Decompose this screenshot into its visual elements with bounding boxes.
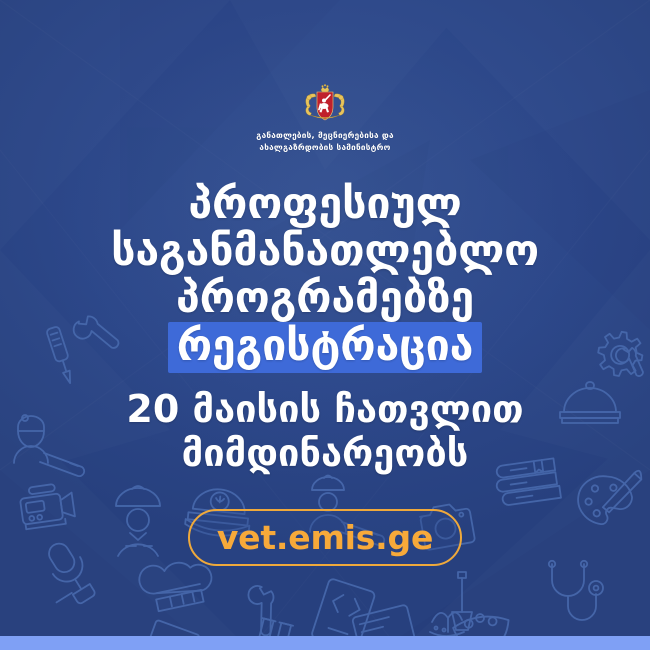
subheadline-line-2: მიმდინარეობს	[126, 431, 523, 475]
subheadline: 20 მაისის ჩათვლით მიმდინარეობს	[126, 387, 523, 475]
ministry-line-1: განათლების, მეცნიერებისა და	[256, 130, 394, 142]
headline-line-2: საგანმანათლებლო	[111, 228, 539, 275]
georgian-coat-of-arms-icon	[299, 84, 351, 124]
ministry-line-2: ახალგაზრდობის სამინისტრო	[256, 142, 394, 154]
headline-highlight: რეგისტრაცია	[168, 322, 483, 373]
headline-highlight-wrap: რეგისტრაცია	[111, 322, 539, 373]
website-url-badge[interactable]: vet.emis.ge	[188, 509, 462, 566]
poster-content: განათლების, მეცნიერებისა და ახალგაზრდობი…	[0, 0, 650, 650]
bottom-accent-strip	[0, 636, 650, 650]
headline: პროფესიულ საგანმანათლებლო პროგრამებზე რე…	[111, 181, 539, 373]
header-block: განათლების, მეცნიერებისა და ახალგაზრდობი…	[256, 84, 394, 153]
poster-root: განათლების, მეცნიერებისა და ახალგაზრდობი…	[0, 0, 650, 650]
headline-line-1: პროფესიულ	[111, 181, 539, 228]
ministry-name: განათლების, მეცნიერებისა და ახალგაზრდობი…	[256, 130, 394, 153]
subheadline-line-1: 20 მაისის ჩათვლით	[126, 387, 523, 431]
headline-line-3: პროგრამებზე	[111, 275, 539, 322]
